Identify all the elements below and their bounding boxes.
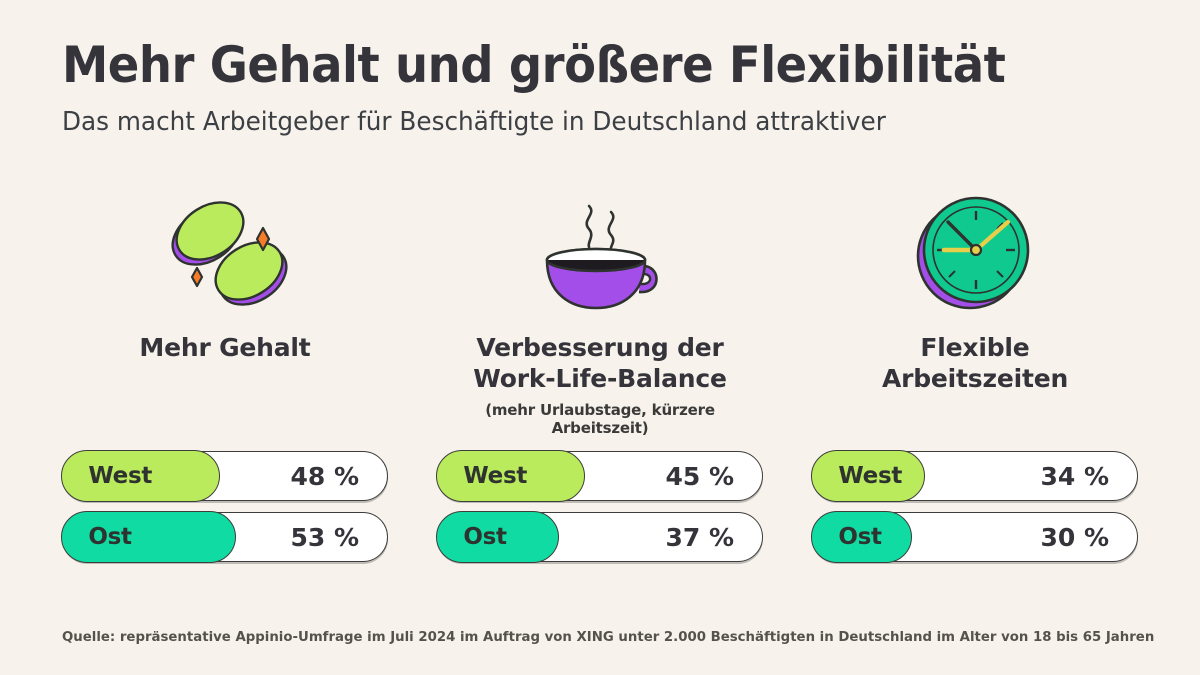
- bar-series-label: Ost: [838, 524, 881, 550]
- bar-value: 30 %: [1040, 523, 1109, 552]
- bar-fill-west: West: [811, 450, 924, 501]
- bar-series-label: Ost: [463, 524, 506, 550]
- category-columns: Mehr Gehalt: [62, 188, 1138, 437]
- bar-group-flexible-arbeitszeiten: West 34 % Ost 30 %: [812, 451, 1138, 562]
- category-heading: Mehr Gehalt: [139, 332, 310, 363]
- bar-row-west: West 34 %: [812, 451, 1138, 501]
- source-note: Quelle: repräsentative Appinio-Umfrage i…: [62, 629, 1154, 645]
- bar-groups: West 48 % Ost 53 % West 45 % Ost: [62, 451, 1138, 562]
- bar-series-label: Ost: [88, 524, 131, 550]
- bar-value: 34 %: [1040, 462, 1109, 491]
- category-column-mehr-gehalt: Mehr Gehalt: [62, 188, 388, 437]
- bar-row-west: West 45 %: [437, 451, 763, 501]
- bar-fill-ost: Ost: [61, 511, 236, 562]
- bar-fill-ost: Ost: [436, 511, 559, 562]
- clock-icon: [812, 188, 1138, 316]
- bar-fill-west: West: [436, 450, 585, 501]
- coins-icon: [62, 188, 388, 316]
- bar-group-work-life-balance: West 45 % Ost 37 %: [437, 451, 763, 562]
- bar-fill-west: West: [61, 450, 220, 501]
- category-heading: Flexible Arbeitszeiten: [882, 332, 1068, 394]
- bar-group-mehr-gehalt: West 48 % Ost 53 %: [62, 451, 388, 562]
- bar-series-label: West: [88, 463, 152, 489]
- infographic-page: Mehr Gehalt und größere Flexibilität Das…: [0, 0, 1200, 675]
- coffee-cup-icon: [437, 188, 763, 316]
- bar-value: 53 %: [290, 523, 359, 552]
- bar-row-ost: Ost 37 %: [437, 512, 763, 562]
- bar-fill-ost: Ost: [811, 511, 911, 562]
- category-heading: Verbesserung der Work-Life-Balance: [473, 332, 726, 394]
- page-subtitle: Das macht Arbeitgeber für Beschäftigte i…: [62, 107, 1084, 138]
- page-title: Mehr Gehalt und größere Flexibilität: [62, 38, 1063, 93]
- category-column-work-life-balance: Verbesserung der Work-Life-Balance (mehr…: [437, 188, 763, 437]
- bar-row-ost: Ost 30 %: [812, 512, 1138, 562]
- category-column-flexible-arbeitszeiten: Flexible Arbeitszeiten: [812, 188, 1138, 437]
- category-subheading: (mehr Urlaubstage, kürzere Arbeitszeit): [437, 401, 763, 437]
- bar-row-ost: Ost 53 %: [62, 512, 388, 562]
- bar-value: 48 %: [290, 462, 359, 491]
- bar-series-label: West: [463, 463, 527, 489]
- bar-value: 45 %: [665, 462, 734, 491]
- bar-row-west: West 48 %: [62, 451, 388, 501]
- header: Mehr Gehalt und größere Flexibilität Das…: [62, 0, 1138, 138]
- bar-value: 37 %: [665, 523, 734, 552]
- bar-series-label: West: [838, 463, 902, 489]
